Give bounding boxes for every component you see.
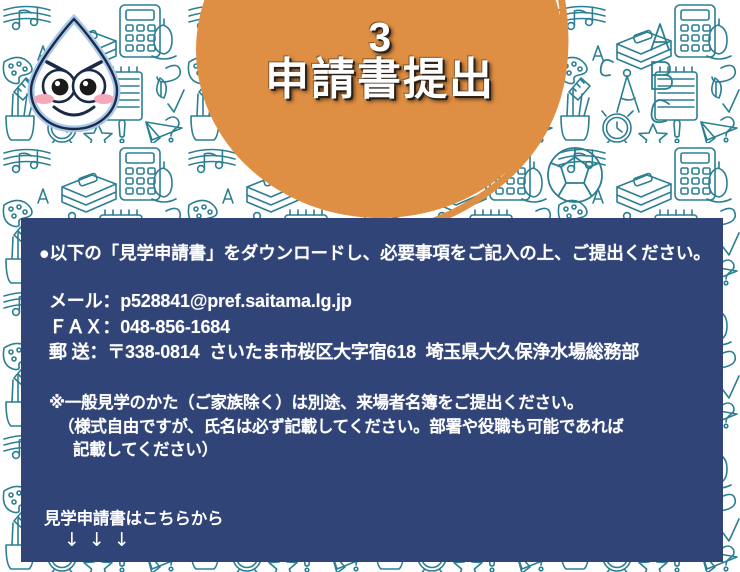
contact-block: メール：p528841@pref.saitama.lg.jp ＦＡＸ：048-8… [49, 289, 709, 366]
download-pointer-block: 見学申請書はこちらから ↓↓↓ [44, 505, 223, 550]
step-number: 3 [196, 16, 564, 59]
note-block: ※一般見学のかた（ご家族除く）は別途、来場者名簿をご提出ください。 （様式自由で… [49, 392, 709, 464]
contact-line-fax: ＦＡＸ：048-856-1684 [49, 315, 709, 341]
note-line-3: 記載してください） [49, 439, 709, 463]
down-arrow-icon: ↓↓↓ [44, 531, 223, 550]
info-panel: ●以下の「見学申請書」をダウンロードし、必要事項をご記入の上、ご提出ください。 … [21, 218, 723, 562]
page-title: 申請書提出 [196, 57, 564, 104]
lead-instruction-line: ●以下の「見学申請書」をダウンロードし、必要事項をご記入の上、ご提出ください。 [39, 240, 709, 265]
download-label: 見学申請書はこちらから [44, 505, 223, 529]
contact-line-email: メール：p528841@pref.saitama.lg.jp [49, 289, 709, 315]
water-drop-mascot-icon [22, 14, 126, 134]
note-line-2: （様式自由ですが、氏名は必ず記載してください。部署や役職も可能であれば [49, 416, 709, 440]
contact-line-postal: 郵 送：〒338-0814 さいたま市桜区大字宿618 埼玉県大久保浄水場総務部 [49, 340, 709, 366]
hero-title: 3 申請書提出 [196, 16, 564, 104]
slide-canvas: 3 申請書提出 ●以下の「見学申請書」をダウンロードし、必要事項をご記入の上、ご… [0, 0, 740, 572]
note-line-1: ※一般見学のかた（ご家族除く）は別途、来場者名簿をご提出ください。 [49, 392, 709, 416]
